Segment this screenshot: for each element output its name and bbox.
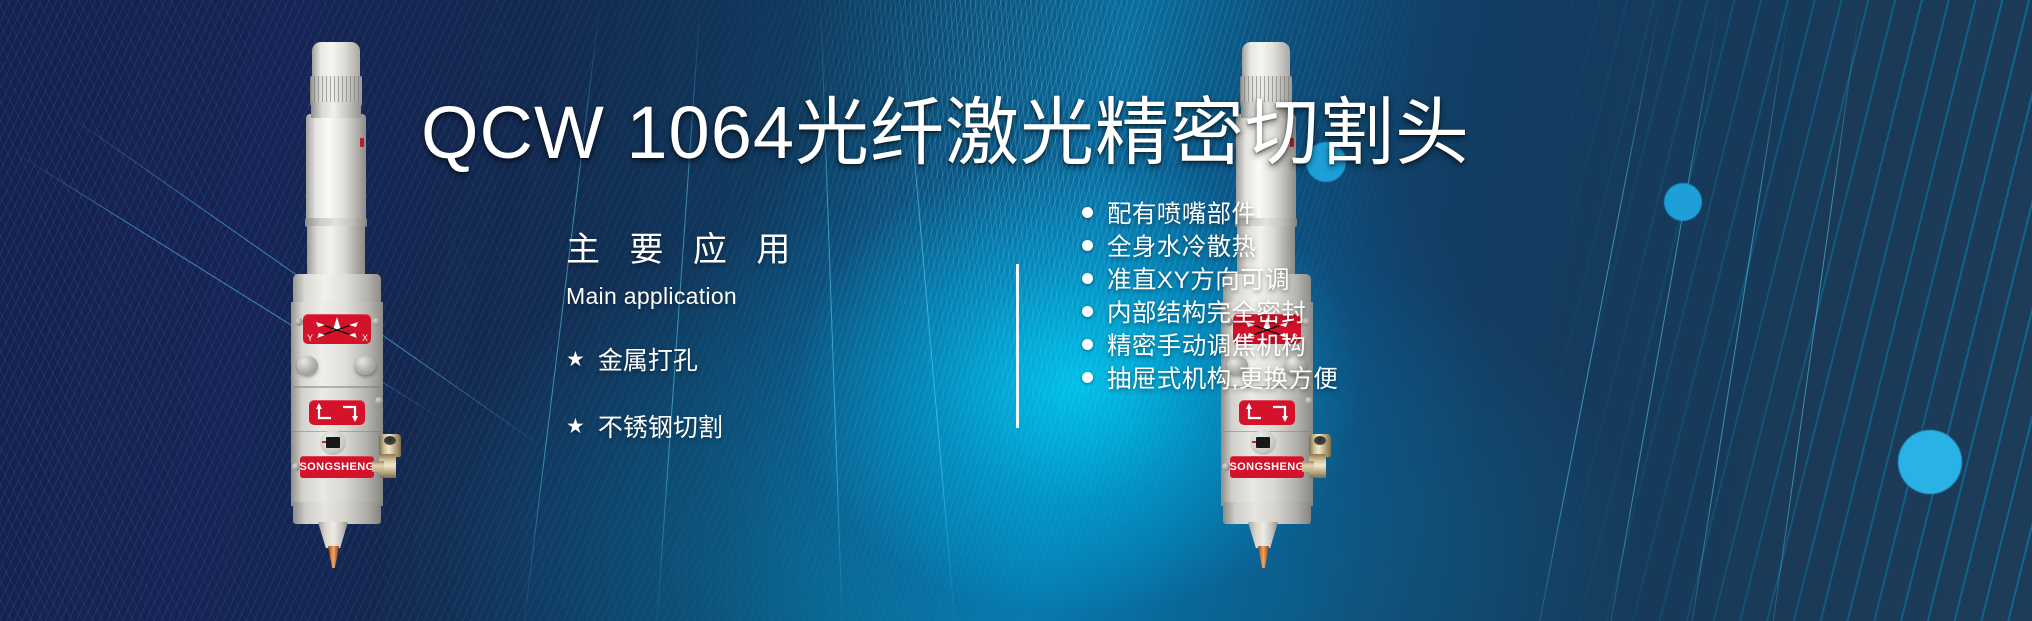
- star-icon: ★: [566, 349, 585, 370]
- streak-line: [1680, 0, 1790, 621]
- direction-arrows-icon: [1239, 400, 1295, 425]
- feature-item-label: 配有喷嘴部件: [1107, 195, 1256, 230]
- inspection-window: [1250, 430, 1276, 455]
- bullet-icon: [1082, 372, 1093, 383]
- application-item: ★ 不锈钢切割: [566, 408, 896, 444]
- bullet-icon: [1082, 240, 1093, 251]
- bullet-icon: [1082, 339, 1093, 350]
- feature-item-label: 抽屉式机构,更换方便: [1107, 360, 1338, 395]
- feature-item: 全身水冷散热: [1082, 229, 1338, 262]
- focus-knob-left: [297, 356, 318, 375]
- feature-item: 配有喷嘴部件: [1082, 196, 1338, 229]
- direction-arrows-icon: [309, 400, 365, 425]
- axis-label-y: Y: [307, 333, 313, 343]
- streak-line: [1598, 0, 1721, 621]
- main-application-subheading: Main application: [566, 283, 896, 310]
- hatch-lines-right: [1504, 0, 2032, 621]
- product-banner: Y X SONGSHENG: [0, 0, 2032, 621]
- feature-item: 精密手动调焦机构: [1082, 328, 1338, 361]
- feature-item-label: 精密手动调焦机构: [1107, 327, 1306, 362]
- bullet-icon: [1082, 207, 1093, 218]
- fitting-nut: [372, 461, 384, 472]
- fitting-port: [1314, 436, 1326, 445]
- feature-item-label: 全身水冷散热: [1107, 228, 1256, 263]
- head-upper-tube: [306, 114, 366, 224]
- feature-item: 准直XY方向可调: [1082, 262, 1338, 295]
- feature-item: 抽屉式机构,更换方便: [1082, 361, 1338, 394]
- feature-item-label: 准直XY方向可调: [1107, 261, 1290, 296]
- main-application-block: 主 要 应 用 Main application ★ 金属打孔 ★ 不锈钢切割: [566, 222, 896, 444]
- feature-item-label: 内部结构完全密封: [1107, 294, 1306, 329]
- copper-nozzle-tip: [328, 546, 339, 568]
- direction-label: [309, 400, 365, 425]
- feature-item: 内部结构完全密封: [1082, 295, 1338, 328]
- laser-head-left: Y X SONGSHENG: [262, 42, 412, 522]
- accent-dot: [1664, 183, 1702, 221]
- bullet-icon: [1082, 273, 1093, 284]
- streak-line: [1526, 0, 1661, 621]
- banner-title: QCW 1064光纤激光精密切割头: [421, 94, 1470, 172]
- nozzle-cone: [1248, 522, 1278, 548]
- copper-nozzle-tip: [1258, 546, 1269, 568]
- fitting-port: [384, 436, 396, 445]
- head-base: [1223, 502, 1311, 524]
- direction-label: [1239, 400, 1295, 425]
- fitting-nut: [1302, 461, 1314, 472]
- axis-alignment-icon: Y X: [303, 314, 371, 344]
- feature-list: 配有喷嘴部件 全身水冷散热 准直XY方向可调 内部结构完全密封 精密手动调焦机构…: [1082, 196, 1338, 394]
- head-screw: [1305, 397, 1313, 405]
- water-fitting: [379, 434, 403, 480]
- application-item-label: 不锈钢切割: [598, 408, 723, 444]
- axis-alignment-label: Y X: [303, 314, 371, 344]
- head-lower-tube: [307, 226, 365, 278]
- application-item-label: 金属打孔: [598, 341, 698, 377]
- accent-dot: [1898, 430, 1962, 494]
- window-lens: [1256, 437, 1270, 448]
- streak-line: [1763, 0, 1861, 621]
- head-neck: [311, 102, 361, 118]
- inspection-window: [320, 430, 346, 455]
- vertical-divider: [1016, 264, 1019, 428]
- focus-knob-right: [355, 356, 376, 375]
- axis-label-x: X: [362, 333, 368, 343]
- main-application-heading: 主 要 应 用: [566, 222, 896, 271]
- brand-label: SONGSHENG: [1230, 456, 1304, 478]
- water-fitting: [1309, 434, 1333, 480]
- star-icon: ★: [566, 416, 585, 437]
- head-red-index-mark: [360, 138, 364, 147]
- head-screw: [1222, 463, 1230, 471]
- head-screw: [375, 397, 383, 405]
- application-item: ★ 金属打孔: [566, 341, 896, 377]
- head-screw: [292, 463, 300, 471]
- head-screw: [372, 318, 380, 326]
- brand-label: SONGSHENG: [300, 456, 374, 478]
- head-base: [293, 502, 381, 524]
- window-lens: [326, 437, 340, 448]
- head-screw: [295, 318, 303, 326]
- bullet-icon: [1082, 306, 1093, 317]
- nozzle-cone: [318, 522, 348, 548]
